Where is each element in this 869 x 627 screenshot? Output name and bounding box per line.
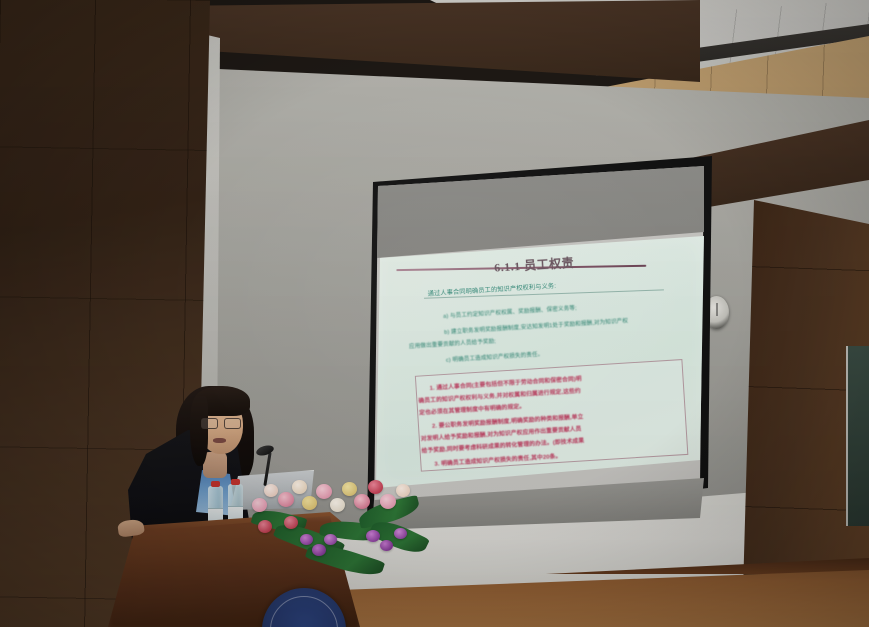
flower-bloom: [354, 494, 370, 509]
flower-bloom: [258, 520, 272, 533]
flower-bloom: [342, 482, 357, 496]
presenter-neck: [203, 452, 227, 478]
presenter-mouth: [213, 438, 226, 443]
presenter-hair-side: [190, 396, 208, 466]
slide-bullet-a: a) 与员工约定知识产权权属、奖励报酬、保密义务等;: [443, 304, 577, 320]
slide-bullet-c: c) 明确员工造成知识产权损失的责任。: [446, 350, 544, 364]
orchid-bloom: [394, 528, 407, 539]
flower-bloom: [330, 498, 345, 512]
flower-bloom: [284, 516, 298, 529]
orchid-bloom: [366, 530, 380, 542]
slide-content: 6.1.1 员工权责 通过人事合同明确员工的知识产权权利与义务: a) 与员工约…: [376, 215, 719, 487]
flower-bloom: [278, 492, 294, 507]
bottle-cap: [211, 481, 220, 487]
flower-bloom: [264, 484, 278, 497]
orchid-bloom: [300, 534, 313, 545]
orchid-bloom: [324, 534, 337, 545]
flower-bloom: [368, 480, 383, 494]
orchid-bloom: [380, 540, 393, 551]
lecture-hall-photo: 6.1.1 员工权责 通过人事合同明确员工的知识产权权利与义务: a) 与员工约…: [0, 0, 869, 627]
slide-title: 6.1.1 员工权责: [494, 254, 575, 276]
flower-arrangement: [250, 468, 430, 598]
flower-bloom: [380, 494, 396, 509]
flower-bloom: [302, 496, 317, 510]
eyeglasses-icon: [201, 418, 241, 427]
flower-bloom: [292, 480, 307, 494]
flower-bloom: [396, 484, 410, 497]
slide-bullet-b-cont: 应用做出重要贡献的人员给予奖励;: [409, 337, 496, 350]
green-chalkboard-edge: [846, 346, 869, 526]
flower-bloom: [252, 498, 267, 512]
flower-bloom: [316, 484, 332, 499]
bottle-cap: [231, 479, 240, 485]
orchid-bloom: [312, 544, 326, 556]
slide-bullet-b: b) 建立职务发明奖励报酬制度,安达知发明1处于奖励和报酬,对为知识产权: [444, 316, 628, 336]
